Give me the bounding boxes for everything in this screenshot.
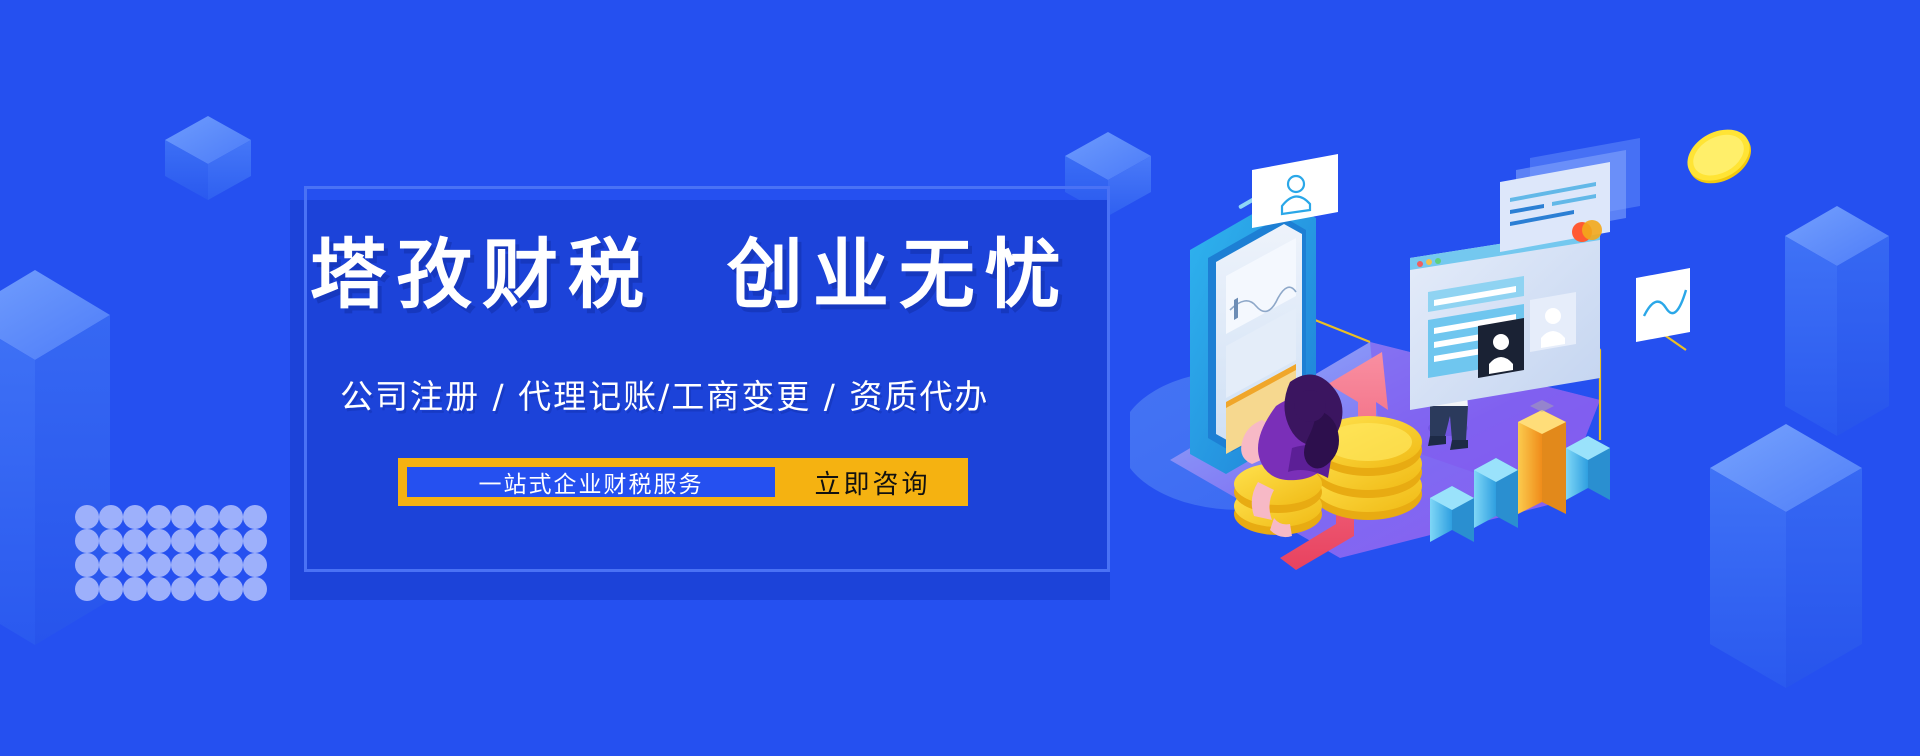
line-chart-card [1636,268,1690,342]
cta-bar[interactable]: 一站式企业财税服务 立即咨询 [398,458,968,506]
service-list-subtitle: 公司注册 / 代理记账/工商变更 / 资质代办 [340,370,1100,418]
decor-coin-top-right [1682,120,1756,192]
consult-now-button[interactable]: 立即咨询 [777,464,968,501]
decor-dot-grid [75,505,267,601]
promotional-banner: 塔孜财税 创业无忧 公司注册 / 代理记账/工商变更 / 资质代办 一站式企业财… [0,0,1920,756]
decor-cube-large-left [0,215,200,645]
dashboard-window [1410,228,1600,410]
decor-cube-lower-right [1710,400,1890,690]
cta-tagline: 一站式企业财税服务 [405,465,777,499]
decor-cube-small-upper-left [163,112,253,202]
page-title: 塔孜财税 创业无忧 [310,235,1100,315]
decor-cube-tall-right [1785,178,1920,438]
credit-card-stack [1500,138,1640,252]
avatar-card [1252,154,1338,228]
isometric-business-illustration [1130,110,1690,580]
